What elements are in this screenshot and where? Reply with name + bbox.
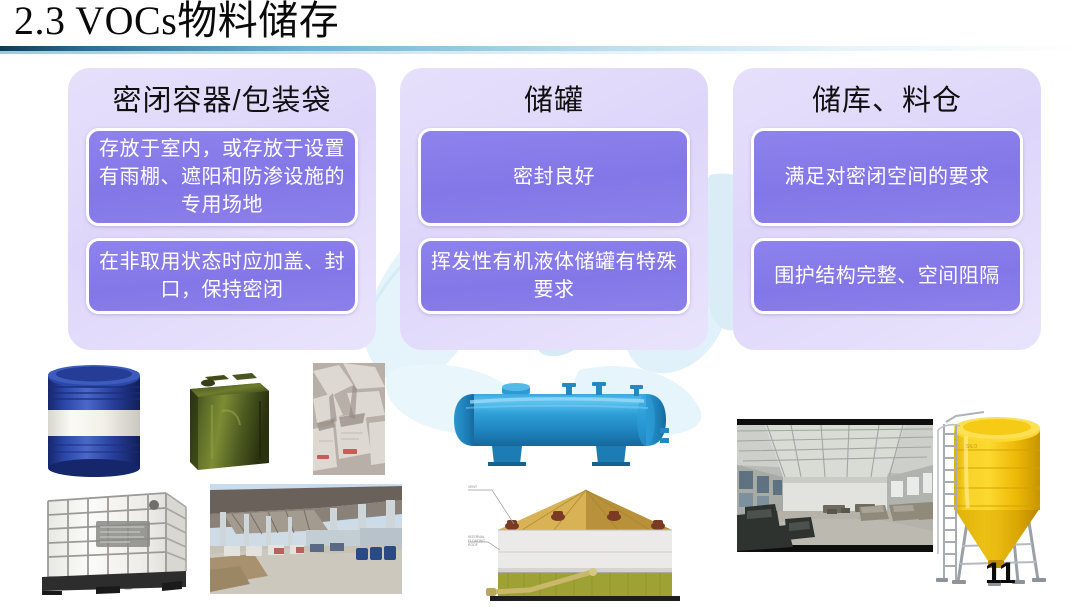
bullet-text-2-1: 围护结构完整、空间阻隔	[764, 262, 1010, 290]
panel-warehouse-silo: 储库、料仓 满足对密闭空间的要求 围护结构完整、空间阻隔	[733, 68, 1041, 350]
internal-floating-roof-tank-diagram: VENT INTERNAL FLOATING ROOF	[462, 480, 680, 602]
canopy-shed-photo	[210, 484, 402, 594]
panel-storage-tank: 储罐 密封良好 挥发性有机液体储罐有特殊要求	[400, 68, 708, 350]
svg-text:ROOF: ROOF	[468, 543, 478, 547]
bullet-2-0: 满足对密闭空间的要求	[751, 128, 1023, 226]
bullet-text-0-0: 存放于室内，或存放于设置有雨棚、遮阳和防渗设施的专用场地	[99, 135, 345, 219]
warehouse-interior-photo	[737, 419, 933, 552]
bullet-1-0: 密封良好	[418, 128, 690, 226]
horizontal-storage-tank-photo	[448, 378, 670, 468]
panel-heading-2: 储库、料仓	[733, 82, 1041, 120]
ibc-tote-photo	[36, 483, 194, 595]
bullet-text-1-0: 密封良好	[431, 163, 677, 191]
title-underline-secondary	[0, 51, 1080, 54]
bullet-text-0-1: 在非取用状态时应加盖、封口，保持密闭	[99, 248, 345, 304]
bullet-1-1: 挥发性有机液体储罐有特殊要求	[418, 238, 690, 314]
panel-closed-container: 密闭容器/包装袋 存放于室内，或存放于设置有雨棚、遮阳和防渗设施的专用场地 在非…	[68, 68, 376, 350]
panel-heading-1: 储罐	[400, 82, 708, 120]
bullet-text-2-0: 满足对密闭空间的要求	[764, 163, 1010, 191]
slide-title-bar: 2.3 VOCs物料储存	[0, 0, 1080, 56]
slide-root: 2.3 VOCs物料储存 密闭容器/包装袋 存放于室内，或存放于设置有雨棚、遮阳…	[0, 0, 1080, 607]
page-title: 2.3 VOCs物料储存	[14, 0, 339, 44]
svg-text:VENT: VENT	[468, 485, 477, 489]
jerry-can-photo	[172, 363, 282, 478]
panel-heading-0: 密闭容器/包装袋	[68, 82, 376, 120]
bullet-0-1: 在非取用状态时应加盖、封口，保持密闭	[86, 238, 358, 314]
bullet-0-0: 存放于室内，或存放于设置有雨棚、遮阳和防渗设施的专用场地	[86, 128, 358, 226]
bullet-2-1: 围护结构完整、空间阻隔	[751, 238, 1023, 314]
bullet-text-1-1: 挥发性有机液体储罐有特殊要求	[431, 248, 677, 304]
woven-bags-photo	[313, 363, 385, 475]
page-number: 11	[985, 557, 1015, 591]
steel-drum-photo	[38, 360, 148, 478]
svg-text:SILO: SILO	[966, 444, 978, 450]
